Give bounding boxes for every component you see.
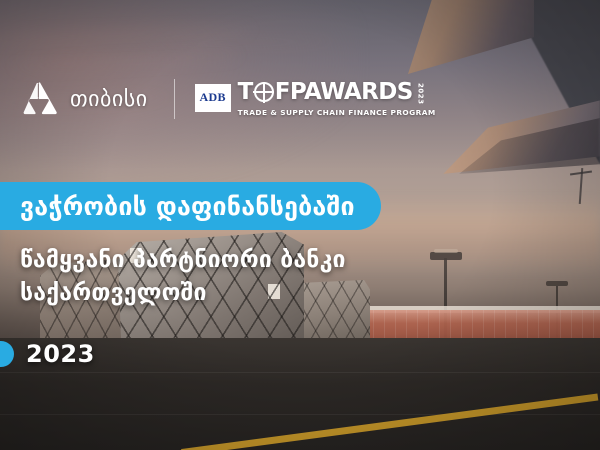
globe-icon (254, 82, 274, 102)
adb-badge-text: ADB (200, 90, 226, 105)
subheadline-line-1: წამყვანი პარტნიორი ბანკი (20, 244, 346, 277)
promo-banner-canvas: თიბისი ADB T FPAWARDS 2023 TRADE & SUPPL… (0, 0, 600, 450)
adb-badge: ADB (195, 84, 231, 112)
subheadline: წამყვანი პარტნიორი ბანკი საქართველოში (20, 244, 346, 311)
tbc-triangle-mark (22, 81, 58, 117)
tfp-title-suffix: FPAWARDS (275, 81, 413, 104)
logo-divider (174, 79, 175, 119)
tbc-wordmark: თიბისი (70, 87, 148, 112)
logo-lockup: თიბისი ADB T FPAWARDS 2023 TRADE & SUPPL… (22, 76, 436, 122)
tfp-awards-subtitle: TRADE & SUPPLY CHAIN FINANCE PROGRAM (238, 108, 436, 117)
blue-dot-icon (0, 341, 14, 367)
subheadline-line-2: საქართველოში (20, 277, 346, 310)
headline-banner-text: ვაჭრობის დაფინანსებაში (20, 194, 355, 219)
year-badge: 2023 (0, 340, 95, 368)
headline-banner: ვაჭრობის დაფინანსებაში (0, 182, 381, 230)
adb-tfp-awards-logo: ADB T FPAWARDS 2023 TRADE & SUPPLY CHAIN… (195, 81, 436, 117)
year-label: 2023 (26, 340, 95, 368)
tfp-awards-titleline: T FPAWARDS 2023 (238, 81, 436, 104)
tfp-awards-stack: T FPAWARDS 2023 TRADE & SUPPLY CHAIN FIN… (238, 81, 436, 117)
tfp-awards-title: T FPAWARDS (238, 81, 413, 104)
tfp-awards-year-vertical: 2023 (417, 83, 424, 104)
tfp-title-prefix: T (238, 81, 253, 104)
